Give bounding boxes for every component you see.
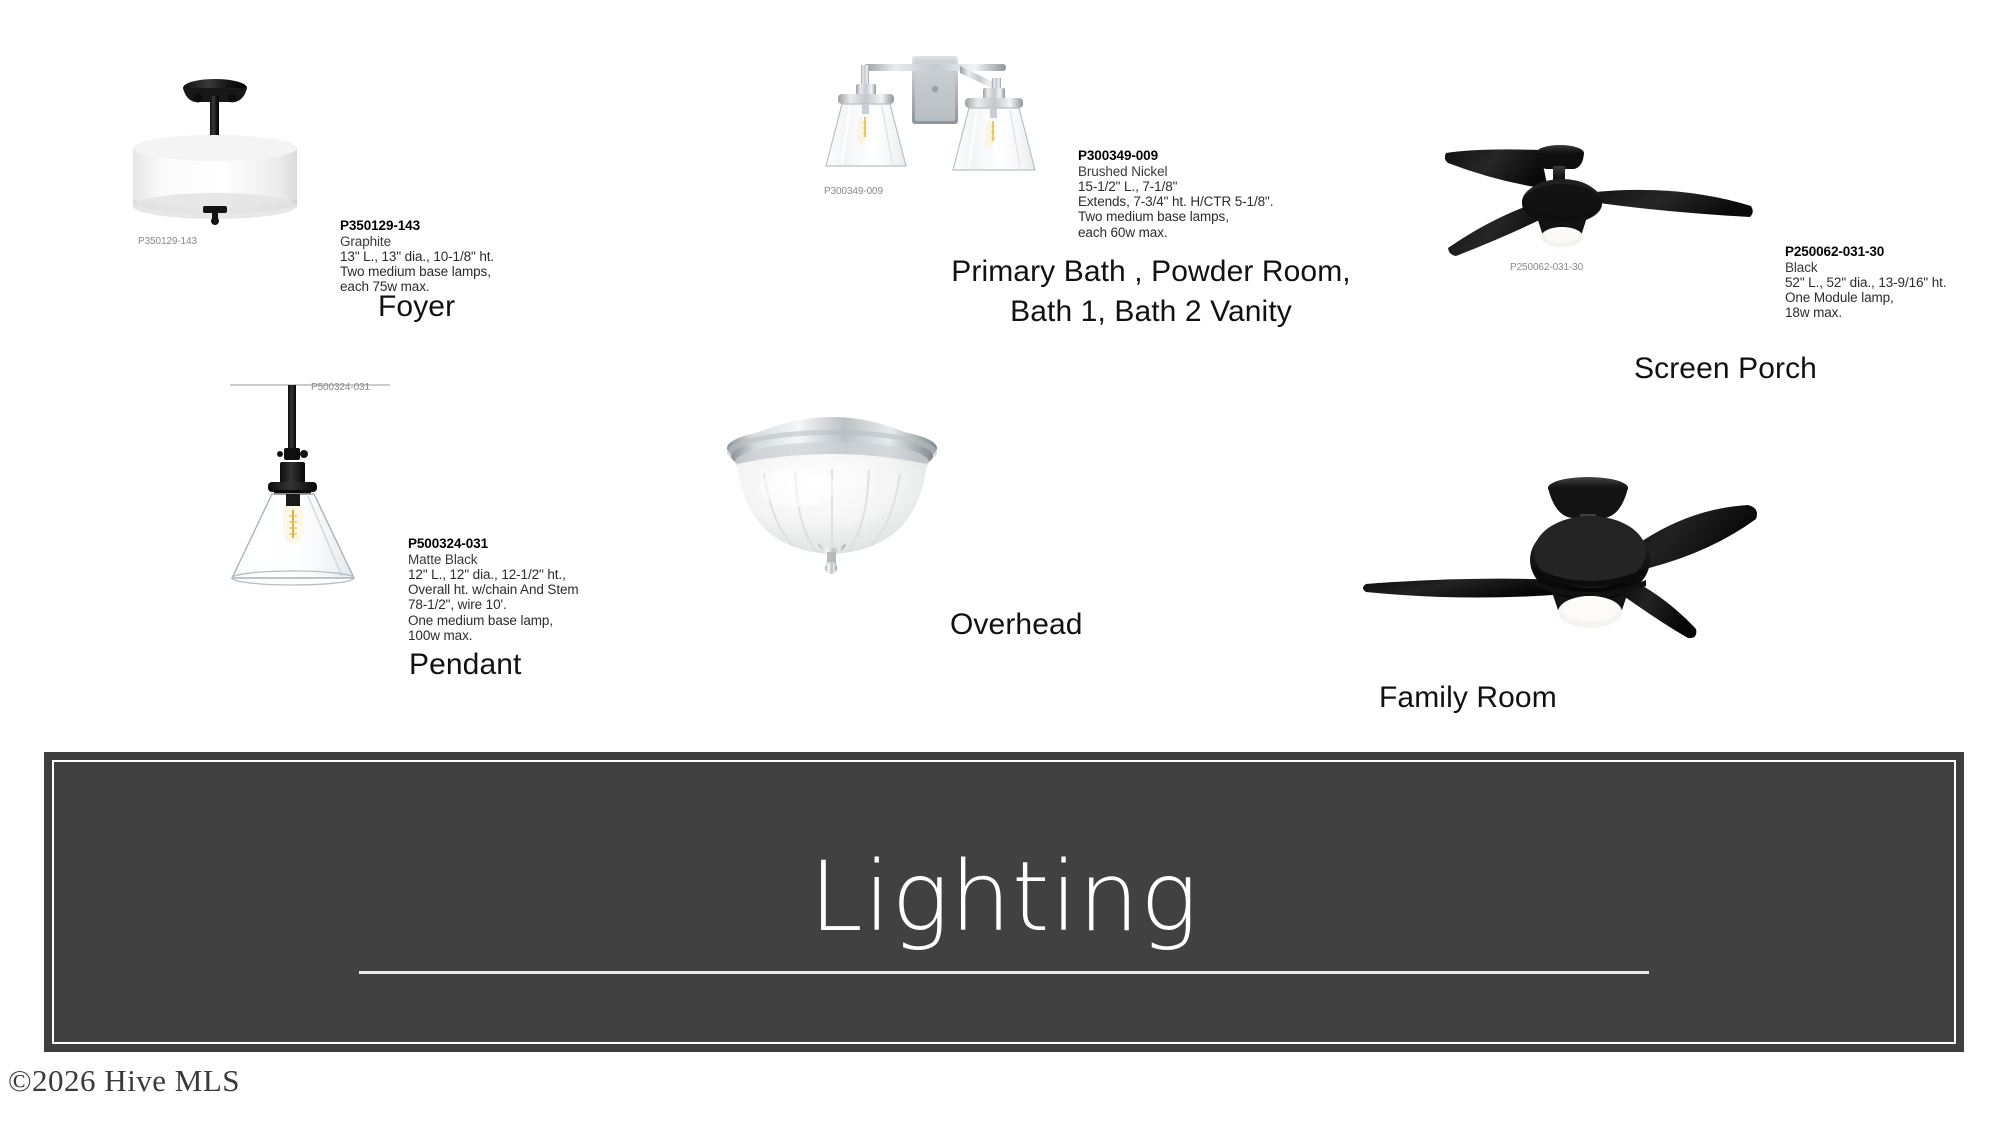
spec-sku-screen-porch-fan: P250062-031-30 — [1785, 244, 1884, 259]
spec-sku-vanity: P300349-009 — [1078, 148, 1158, 163]
room-label-screen-porch: Screen Porch — [1634, 352, 1817, 386]
lighting-banner-inner: Lighting — [52, 760, 1956, 1044]
spec-details-screen-porch-fan: 52" L., 52" dia., 13-9/16" ht. One Modul… — [1785, 275, 2000, 321]
product-spec-screen-porch-fan: P250062-031-30 Black 52" L., 52" dia., 1… — [1785, 229, 2000, 336]
product-caption-pendant: P500324-031 — [311, 382, 370, 393]
spec-finish-screen-porch-fan: Black — [1785, 260, 1818, 275]
room-label-foyer: Foyer — [378, 290, 455, 324]
lighting-banner: Lighting — [44, 752, 1964, 1052]
product-image-overhead-flush-mount — [700, 382, 965, 582]
product-image-foyer-semi-flush — [100, 30, 330, 230]
spec-sku-pendant: P500324-031 — [408, 536, 488, 551]
spec-details-foyer: 13" L., 13" dia., 10-1/8" ht. Two medium… — [340, 249, 570, 295]
spec-finish-pendant: Matte Black — [408, 552, 477, 567]
product-image-family-room-fan — [1340, 452, 1760, 652]
room-label-family-room: Family Room — [1379, 681, 1557, 715]
room-label-overhead: Overhead — [950, 608, 1083, 642]
copyright-watermark: ©2026 Hive MLS — [8, 1063, 240, 1099]
room-label-pendant: Pendant — [409, 648, 521, 682]
room-label-vanity: Primary Bath , Powder Room, Bath 1, Bath… — [916, 252, 1386, 332]
product-image-pendant — [200, 370, 390, 605]
spec-details-vanity: 15-1/2" L., 7-1/8" Extends, 7-3/4" ht. H… — [1078, 179, 1328, 240]
spec-sku-foyer: P350129-143 — [340, 218, 420, 233]
spec-finish-foyer: Graphite — [340, 234, 391, 249]
banner-divider-rule — [359, 971, 1649, 974]
product-caption-screen-porch-fan: P250062-031-30 — [1510, 262, 1583, 273]
product-image-screen-porch-fan — [1432, 98, 1762, 258]
product-image-vanity-2-light — [820, 32, 1050, 182]
product-spec-pendant: P500324-031 Matte Black 12" L., 12" dia.… — [408, 521, 643, 659]
banner-title: Lighting — [809, 849, 1198, 945]
product-caption-foyer: P350129-143 — [138, 236, 197, 247]
product-caption-vanity: P300349-009 — [824, 186, 883, 197]
lighting-spec-page: P350129-143 P350129-143 Graphite 13" L.,… — [0, 0, 2000, 1125]
spec-details-pendant: 12" L., 12" dia., 12-1/2" ht., Overall h… — [408, 567, 643, 643]
spec-finish-vanity: Brushed Nickel — [1078, 164, 1167, 179]
product-spec-vanity: P300349-009 Brushed Nickel 15-1/2" L., 7… — [1078, 133, 1328, 255]
